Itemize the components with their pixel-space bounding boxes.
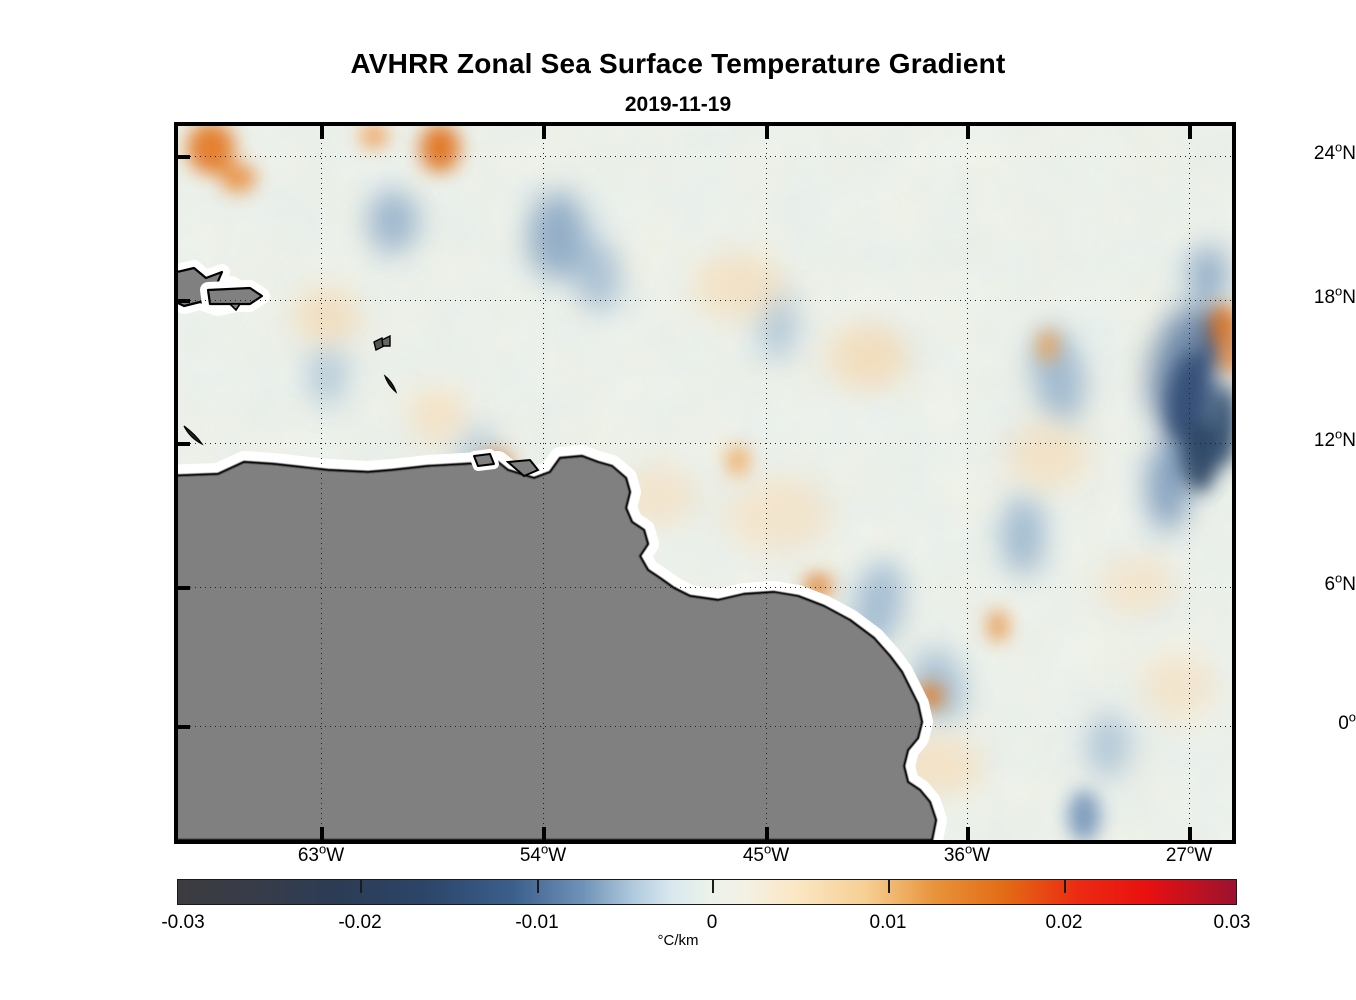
colorbar-units-label: °C/km	[0, 932, 1356, 949]
ytick-18	[177, 299, 190, 303]
ytick-label-24-value: 24	[1314, 143, 1335, 164]
xtick-label-36: 36oW	[944, 845, 990, 867]
xtick-27-top	[1188, 126, 1192, 139]
colorbar-label--0.02: -0.02	[338, 912, 381, 934]
xtick-45-top	[765, 126, 769, 139]
colorbar-label-0.01: 0.01	[870, 912, 907, 934]
colorbar-label--0.03: -0.03	[161, 912, 204, 934]
xtick-label-27: 27oW	[1166, 845, 1212, 867]
ytick-label-24: 24oN	[1192, 143, 1356, 165]
ytick-label-18-suffix: N	[1342, 287, 1356, 308]
figure-subtitle: 2019-11-19	[0, 93, 1356, 117]
xtick-label-54-suffix: W	[548, 845, 566, 866]
ytick-6	[177, 586, 190, 590]
xtick-label-63-suffix: W	[326, 845, 344, 866]
xtick-45-bottom	[765, 827, 769, 840]
figure-canvas: AVHRR Zonal Sea Surface Temperature Grad…	[0, 0, 1356, 1000]
ytick-label-6-suffix: N	[1342, 574, 1356, 595]
ytick-label-12-value: 12	[1314, 430, 1335, 451]
ytick-label-6-value: 6	[1324, 574, 1335, 595]
xtick-63-top	[320, 126, 324, 139]
colorbar-label-0: 0	[707, 912, 718, 934]
colorbar-tick-0.01	[888, 880, 890, 893]
ytick-12	[177, 442, 190, 446]
ytick-label-6: 6oN	[1192, 574, 1356, 596]
map-plot-area	[178, 126, 1232, 840]
xtick-label-45-value: 45	[743, 845, 764, 866]
colorbar-tick--0.02	[360, 880, 362, 893]
ytick-label-24-suffix: N	[1342, 143, 1356, 164]
xtick-label-63-value: 63	[298, 845, 319, 866]
colorbar-tick--0.01	[537, 880, 539, 893]
xtick-label-54: 54oW	[520, 845, 566, 867]
colorbar-label-0.03: 0.03	[1214, 912, 1251, 934]
xtick-27-bottom	[1188, 827, 1192, 840]
ytick-label-12-suffix: N	[1342, 430, 1356, 451]
xtick-label-27-value: 27	[1166, 845, 1187, 866]
xtick-54-bottom	[542, 827, 546, 840]
xtick-label-36-suffix: W	[972, 845, 990, 866]
xtick-54-top	[542, 126, 546, 139]
colorbar-gradient	[177, 879, 1237, 905]
ytick-24	[177, 155, 190, 159]
xtick-63-bottom	[320, 827, 324, 840]
degree-symbol: o	[1349, 710, 1356, 725]
ytick-label-0-value: 0	[1338, 713, 1349, 734]
xtick-label-27-suffix: W	[1194, 845, 1212, 866]
ytick-label-12: 12oN	[1192, 430, 1356, 452]
colorbar-label-0.02: 0.02	[1046, 912, 1083, 934]
xtick-label-54-value: 54	[520, 845, 541, 866]
xtick-label-45-suffix: W	[771, 845, 789, 866]
ytick-label-18: 18oN	[1192, 287, 1356, 309]
colorbar-tick-0.02	[1064, 880, 1066, 893]
xtick-36-bottom	[966, 827, 970, 840]
sst-gradient-heatmap	[178, 126, 1232, 840]
colorbar-label--0.01: -0.01	[515, 912, 558, 934]
figure-title: AVHRR Zonal Sea Surface Temperature Grad…	[0, 48, 1356, 80]
map-axes	[174, 122, 1236, 844]
xtick-36-top	[966, 126, 970, 139]
ytick-label-18-value: 18	[1314, 287, 1335, 308]
ytick-label-0: 0o	[1192, 713, 1356, 735]
colorbar-tick-0	[712, 880, 714, 893]
ytick-0	[177, 725, 190, 729]
colorbar	[177, 879, 1237, 905]
xtick-label-45: 45oW	[743, 845, 789, 867]
xtick-label-36-value: 36	[944, 845, 965, 866]
xtick-label-63: 63oW	[298, 845, 344, 867]
